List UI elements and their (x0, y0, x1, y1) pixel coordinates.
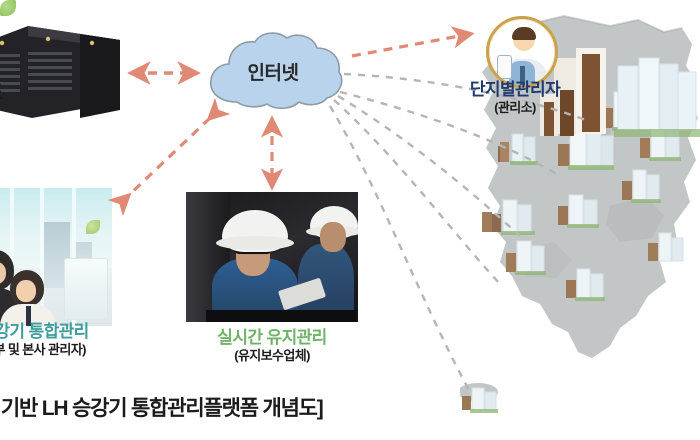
internet-label: 인터넷 (199, 58, 347, 85)
headquarters-label: 승강기 통합관리 본부 및 본사 관리자) (0, 322, 134, 358)
cloud-server-label: 우드 (0, 76, 60, 105)
map-marker-apartment[interactable] (564, 262, 610, 309)
avatar-hair (512, 27, 536, 40)
monitor-icon (64, 258, 108, 320)
manager-avatar[interactable] (486, 16, 558, 88)
headquarters-subtitle: 본부 및 본사 관리자) (0, 342, 134, 359)
manager-title: 단지별관리자 (420, 80, 610, 100)
diagram-canvas: 우드 인터넷 (0, 0, 700, 440)
map-marker-apartment[interactable] (556, 186, 606, 235)
worker2-face (320, 222, 346, 252)
leaf-icon (0, 0, 16, 16)
map-marker-apartment[interactable] (504, 234, 554, 283)
link-internet-manager (352, 34, 470, 56)
map-marker-apartment-jeju[interactable] (460, 382, 504, 421)
internet-cloud[interactable]: 인터넷 (199, 28, 347, 118)
map-marker-apartment[interactable] (496, 128, 542, 173)
map-marker-apartment[interactable] (620, 162, 668, 211)
office-worker2-face (16, 280, 36, 302)
cloud-server-racks: 우드 (0, 18, 120, 126)
link-internet-headquarters (128, 118, 210, 196)
helmet-brim (216, 236, 294, 250)
diagram-caption: 우드 기반 LH 승강기 통합관리플랫폼 개념도] (0, 392, 400, 422)
manager-label: 단지별관리자 (관리소) (420, 80, 610, 116)
maintenance-label: 실시간 유지관리 (유지보수업체) (182, 328, 362, 364)
photo-foreground (206, 310, 356, 322)
headquarters-photo (0, 188, 112, 326)
map-marker-apartment[interactable] (646, 226, 690, 273)
smartphone-icon (497, 55, 512, 79)
manager-subtitle: (관리소) (420, 100, 610, 117)
avatar-ring (486, 16, 558, 88)
maintenance-photo (186, 192, 358, 322)
maintenance-subtitle: (유지보수업체) (182, 348, 362, 365)
headquarters-title: 승강기 통합관리 (0, 322, 134, 342)
maintenance-title: 실시간 유지관리 (182, 328, 362, 348)
